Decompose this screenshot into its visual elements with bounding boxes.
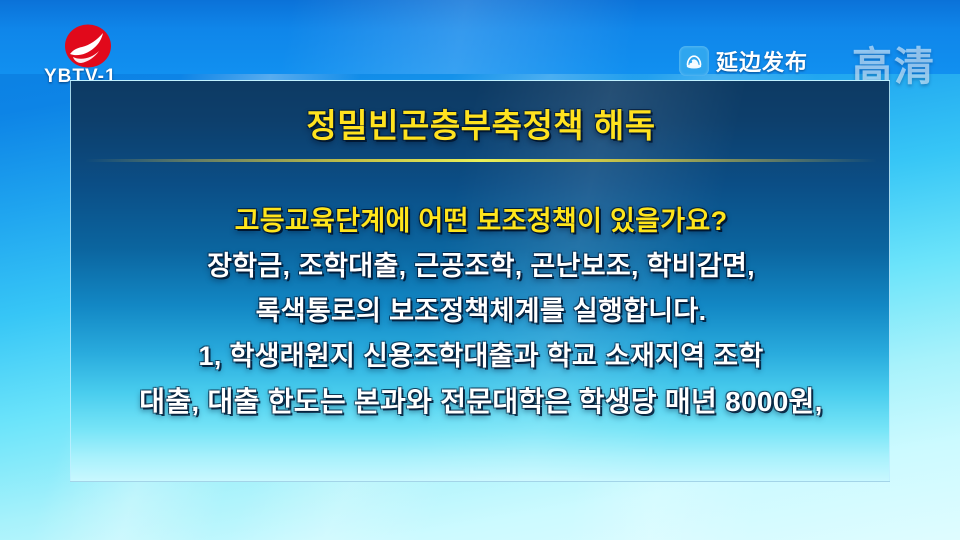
body-line: 고등교육단계에 어떤 보조정책이 있을가요?: [71, 199, 890, 244]
body-line: 록색통로의 보조정책체계를 실행합니다.: [71, 289, 890, 334]
body-line: 장학금, 조학대출, 근공조학, 곤난보조, 학비감면,: [71, 244, 890, 289]
broadcast-screen: YBTV-1 延边发布 高清 정밀빈곤층부축정책 해독 고등교육단계에 어떤 보…: [0, 0, 960, 540]
title-divider: [85, 159, 877, 162]
brand-lockup: 延边发布: [679, 44, 808, 78]
channel-bug: YBTV-1: [44, 24, 174, 86]
panel-title: 정밀빈곤층부축정책 해독: [71, 99, 890, 147]
body-line: 1, 학생래원지 신용조학대출과 학교 소재지역 조학: [71, 334, 890, 379]
body-line: 대출, 대출 한도는 본과와 전문대학은 학생당 매년 8000원,: [71, 379, 890, 424]
ybtv-circle-swoosh-logo-icon: [64, 24, 112, 68]
content-panel: 정밀빈곤층부축정책 해독 고등교육단계에 어떤 보조정책이 있을가요? 장학금,…: [70, 80, 890, 482]
brand-name: 延边发布: [716, 45, 808, 77]
cloud-arch-icon: [679, 46, 709, 76]
panel-body: 고등교육단계에 어떤 보조정책이 있을가요? 장학금, 조학대출, 근공조학, …: [71, 199, 890, 424]
